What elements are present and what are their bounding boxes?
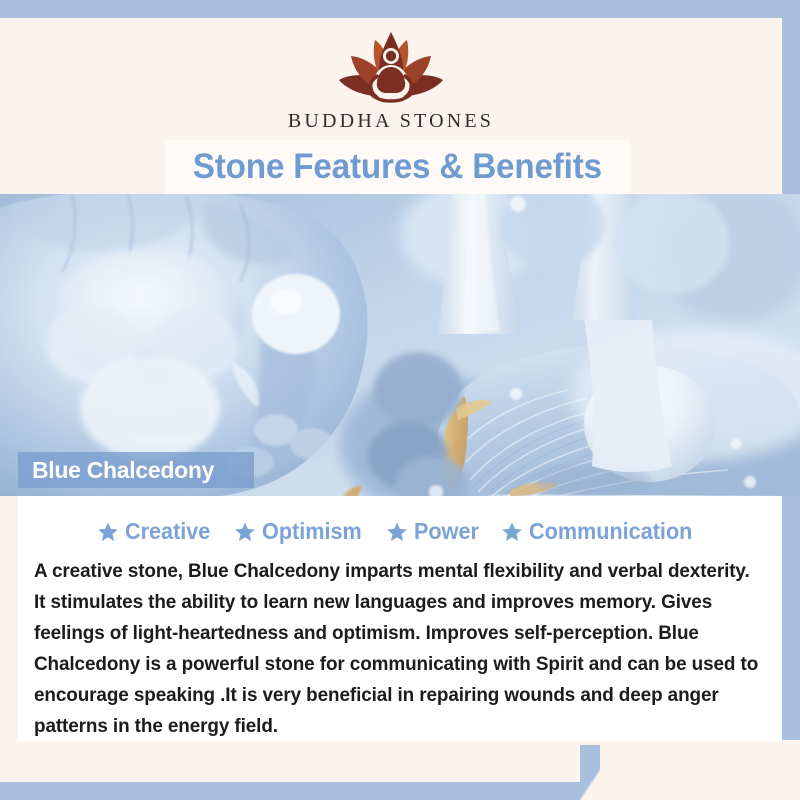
feature-item-power: Power xyxy=(386,518,483,545)
bottom-cream-strip xyxy=(18,741,782,745)
stone-name: Blue Chalcedony xyxy=(32,457,214,484)
bottom-right-corner-fill xyxy=(600,740,800,800)
content-panel: Creative Optimism Power Communication xyxy=(18,496,782,741)
hero-photo xyxy=(0,194,800,496)
lotus-meditation-figure-logo-icon xyxy=(327,26,455,108)
feature-label: Power xyxy=(414,518,479,545)
stone-name-caption: Blue Chalcedony xyxy=(18,452,254,488)
hero-photo-illustration xyxy=(0,194,800,496)
feature-label: Optimism xyxy=(262,518,362,545)
brand-name: BUDDHA STONES xyxy=(288,110,494,133)
infographic-page: BUDDHA STONES Stone Features & Benefits xyxy=(0,0,800,800)
feature-item-optimism: Optimism xyxy=(234,518,368,545)
star-icon xyxy=(386,521,408,543)
feature-label: Creative xyxy=(125,518,210,545)
star-icon xyxy=(234,521,256,543)
title-banner: Stone Features & Benefits xyxy=(165,140,630,194)
feature-label: Communication xyxy=(529,518,692,545)
star-icon xyxy=(97,521,119,543)
page-title: Stone Features & Benefits xyxy=(193,147,602,187)
stone-description: A creative stone, Blue Chalcedony impart… xyxy=(34,556,763,742)
feature-item-creative: Creative xyxy=(97,518,216,545)
feature-list: Creative Optimism Power Communication xyxy=(18,518,782,545)
star-icon xyxy=(501,521,523,543)
feature-item-communication: Communication xyxy=(501,518,703,545)
brand-header: BUDDHA STONES xyxy=(0,18,782,140)
